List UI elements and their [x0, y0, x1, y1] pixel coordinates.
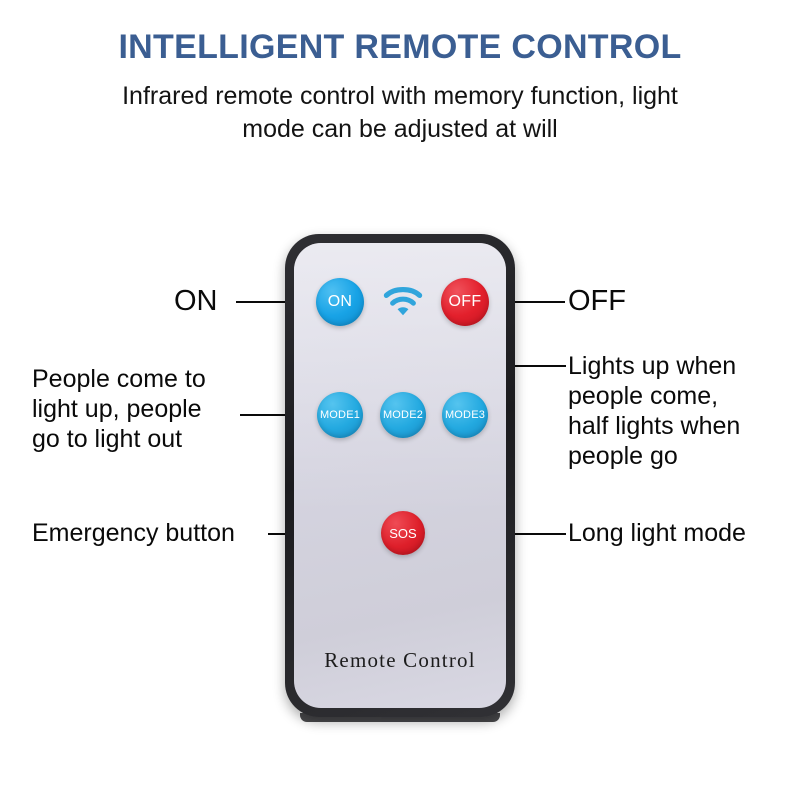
- sos-button[interactable]: SOS: [381, 511, 425, 555]
- off-button[interactable]: OFF: [441, 278, 489, 326]
- page-subtitle: Infrared remote control with memory func…: [100, 80, 700, 146]
- callout-off-label: OFF: [568, 284, 626, 319]
- callout-mode1-label: People come to light up, people go to li…: [32, 364, 244, 454]
- infographic-canvas: INTELLIGENT REMOTE CONTROL Infrared remo…: [0, 0, 800, 800]
- callout-mode2-label: Lights up when people come, half lights …: [568, 351, 794, 471]
- mode2-button[interactable]: MODE2: [380, 392, 426, 438]
- device-brand-text: Remote Control: [294, 648, 506, 673]
- remote-faceplate: ON OFF MODE1 MODE2 MODE3 SOS Remote Cont…: [294, 243, 506, 708]
- mode1-button[interactable]: MODE1: [317, 392, 363, 438]
- callout-on-label: ON: [174, 284, 218, 319]
- mode3-button[interactable]: MODE3: [442, 392, 488, 438]
- page-title: INTELLIGENT REMOTE CONTROL: [0, 28, 800, 67]
- wifi-signal-icon: [383, 286, 423, 318]
- remote-control-device: ON OFF MODE1 MODE2 MODE3 SOS Remote Cont…: [285, 234, 515, 717]
- on-button[interactable]: ON: [316, 278, 364, 326]
- callout-mode3-label: Long light mode: [568, 518, 746, 548]
- callout-sos-label: Emergency button: [32, 518, 235, 548]
